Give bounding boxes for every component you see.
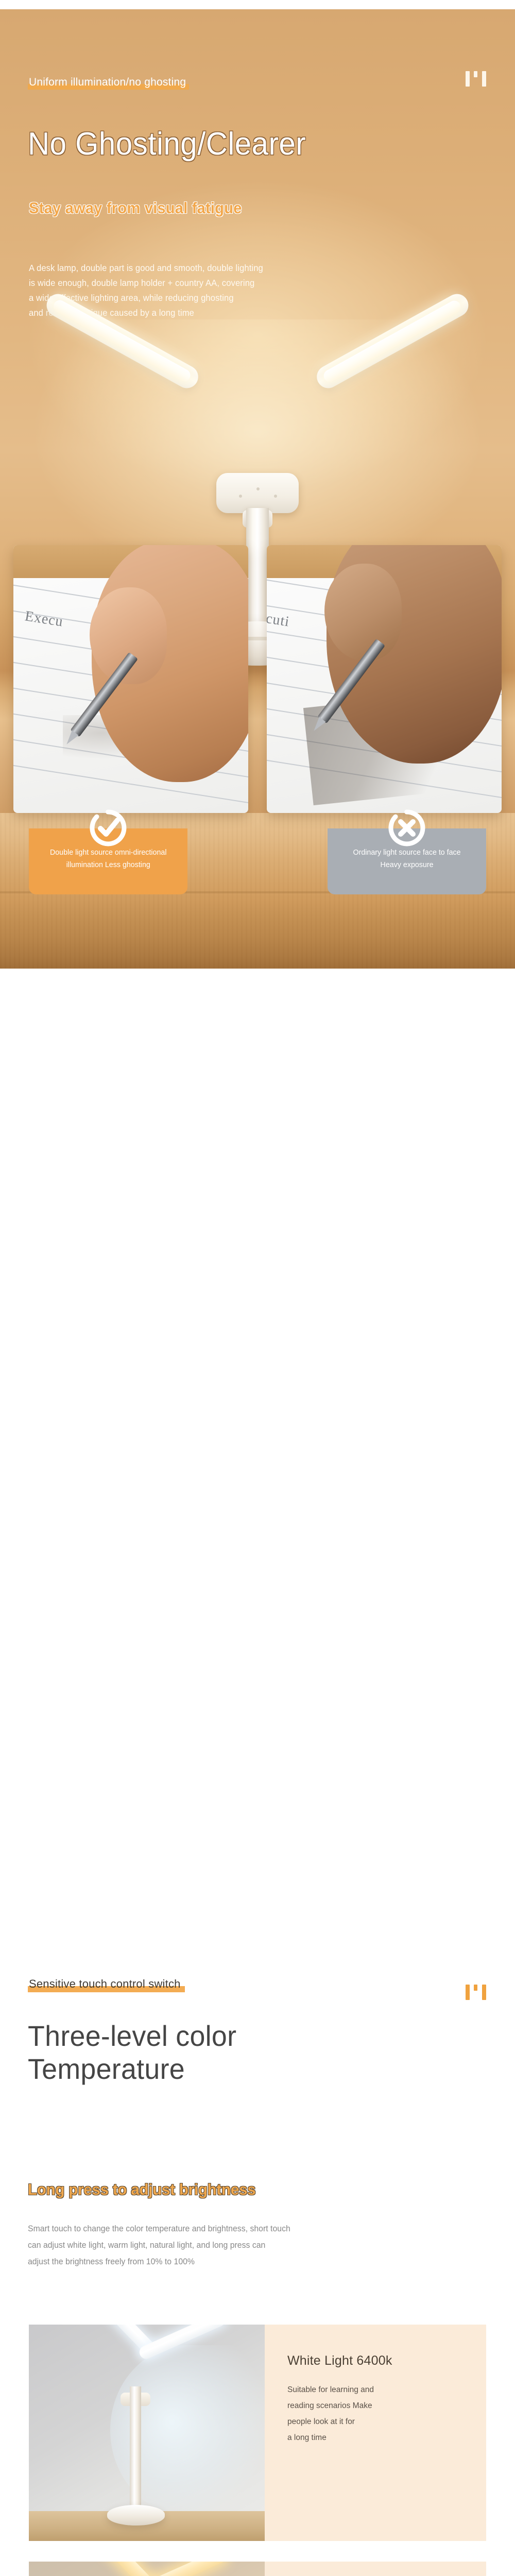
sec2-body-line: Smart touch to change the color temperat… [28, 2221, 473, 2237]
top-white-strip [0, 0, 515, 9]
comparison-good-line1: Double light source omni-directional [50, 848, 167, 857]
sec2-body-line: can adjust white light, warm light, natu… [28, 2237, 473, 2253]
hero-body-line: A desk lamp, double part is good and smo… [29, 261, 445, 276]
sec2-title-line: Temperature [28, 2053, 236, 2086]
sec2-eyebrow: Sensitive touch control switch [29, 1977, 181, 1991]
sec2-title-line: Three-level color [28, 2020, 236, 2053]
comparison-good-line2: illumination Less ghosting [66, 860, 150, 869]
hero-subtitle: Stay away from visual fatigue [29, 199, 242, 217]
quote-mark-motif-icon [465, 1984, 488, 2001]
hero-title: No Ghosting/Clearer [28, 128, 306, 160]
hero-section: Uniform illumination/no ghosting No Ghos… [0, 9, 515, 969]
comparison-bad-line2: Heavy exposure [380, 860, 433, 869]
comparison-badge-bad: Ordinary light source face to face Heavy… [328, 828, 486, 894]
sec2-eyebrow-label: Sensitive touch control switch [29, 1977, 181, 1990]
sec2-subtitle: Long press to adjust brightness [28, 2180, 255, 2199]
x-circle-icon [387, 808, 427, 848]
quote-mark-motif-icon [465, 70, 488, 88]
card-desc-line: Suitable for learning and [287, 2382, 486, 2398]
card-desc-line: people look at it for [287, 2414, 486, 2430]
card-desc-line: reading scenarios Make [287, 2398, 486, 2414]
hero-eyebrow: Uniform illumination/no ghosting [29, 76, 186, 89]
hand-writing-with-pen-photo: Execu [13, 545, 248, 813]
comparison-bad-line1: Ordinary light source face to face [353, 848, 460, 857]
hero-eyebrow-label: Uniform illumination/no ghosting [29, 76, 186, 88]
sec2-body-text: Smart touch to change the color temperat… [28, 2221, 473, 2270]
hand-writing-with-shadow-photo: xecuti [267, 545, 502, 813]
hero-body-line: is wide enough, double lamp holder + cou… [29, 276, 445, 291]
comparison-badge-good: Double light source omni-directional ill… [29, 828, 187, 894]
card-desc-line: a long time [287, 2430, 486, 2446]
comparison-good-text: Double light source omni-directional ill… [50, 846, 167, 871]
lamp-warm-light-photo [29, 2562, 265, 2576]
sec2-title: Three-level color Temperature [28, 2020, 245, 2086]
comparison-bad-text: Ordinary light source face to face Heavy… [353, 846, 460, 871]
hero-body-line: a wide effective lighting area, while re… [29, 291, 445, 306]
sec2-body-line: adjust the brightness freely from 10% to… [28, 2253, 473, 2270]
card-description: Suitable for learning and reading scenar… [287, 2382, 486, 2446]
color-temperature-card[interactable]: White Light 6400k Suitable for learning … [29, 2325, 486, 2541]
color-temperature-card[interactable]: Warm Light 3000k A good friend in bed Su… [29, 2562, 486, 2576]
card-title: White Light 6400k [287, 2353, 486, 2368]
lamp-white-light-photo [29, 2325, 265, 2541]
check-circle-icon [88, 808, 128, 848]
